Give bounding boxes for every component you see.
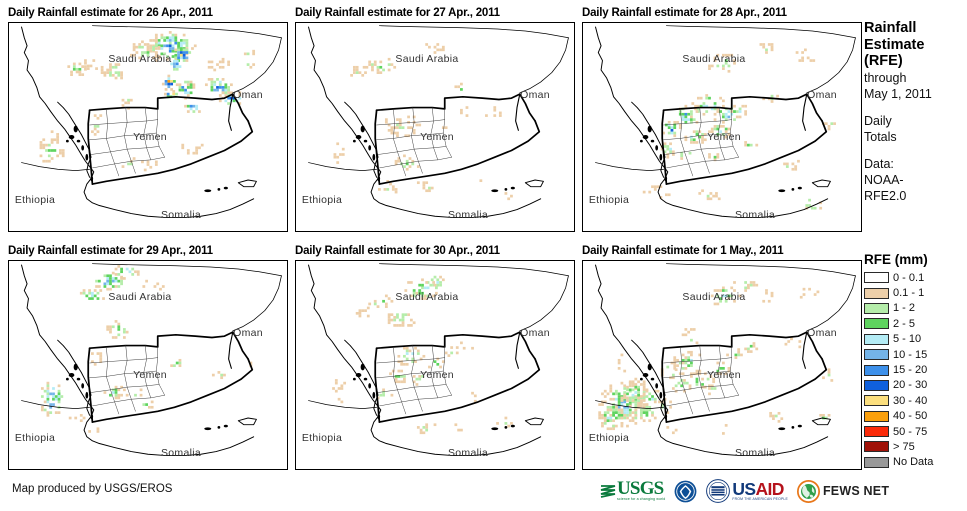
- noaa-logo: [674, 478, 697, 504]
- map-canvas-2: [296, 23, 574, 231]
- legend-swatch-0: [864, 272, 889, 283]
- panel-title-6: Daily Rainfall estimate for 1 May., 2011: [582, 245, 783, 258]
- map-frame-3: Saudi ArabiaOmanYemenEthiopiaSomalia: [582, 22, 862, 232]
- header-line-daily: Daily: [864, 113, 967, 129]
- header-line-rfe20: RFE2.0: [864, 188, 967, 204]
- fewsnet-wordmark: FEWS NET: [823, 484, 889, 498]
- map-frame-5: Saudi ArabiaOmanYemenEthiopiaSomalia: [295, 260, 575, 470]
- legend-label-3: 2 - 5: [893, 318, 915, 330]
- panel-title-5: Daily Rainfall estimate for 30 Apr., 201…: [295, 245, 500, 258]
- legend-swatch-4: [864, 334, 889, 345]
- rainfall-panel-4: Daily Rainfall estimate for 29 Apr., 201…: [8, 245, 213, 258]
- rainfall-panel-5: Daily Rainfall estimate for 30 Apr., 201…: [295, 245, 500, 258]
- legend-label-10: 50 - 75: [893, 426, 927, 438]
- usgs-wordmark: USGS: [617, 480, 665, 497]
- basemap-boundaries-4: [22, 264, 282, 456]
- map-canvas-4: [9, 261, 287, 469]
- header-line-noaa: NOAA-: [864, 172, 967, 188]
- legend-swatch-3: [864, 318, 889, 329]
- legend-row-2: 1 - 2: [864, 301, 967, 316]
- legend-row-6: 15 - 20: [864, 362, 967, 377]
- legend-label-1: 0.1 - 1: [893, 287, 924, 299]
- rainfall-raster-4: [41, 265, 252, 433]
- legend-swatch-1: [864, 288, 889, 299]
- basemap-boundaries-6: [596, 264, 856, 456]
- usgs-tagline: science for a changing world: [617, 497, 665, 502]
- rainfall-raster-5: [332, 276, 513, 434]
- panel-title-1: Daily Rainfall estimate for 26 Apr., 201…: [8, 7, 213, 20]
- usaid-logo: USAID FROM THE AMERICAN PEOPLE: [706, 478, 788, 504]
- header-line-rainfall: Rainfall: [864, 20, 967, 37]
- legend-swatch-6: [864, 365, 889, 376]
- header-line-estimate: Estimate: [864, 37, 967, 54]
- usaid-tagline: FROM THE AMERICAN PEOPLE: [732, 497, 788, 502]
- legend-label-12: No Data: [893, 456, 933, 468]
- rainfall-panel-2: Daily Rainfall estimate for 27 Apr., 201…: [295, 7, 500, 20]
- usgs-mark-icon: [600, 483, 616, 500]
- legend-swatch-12: [864, 457, 889, 468]
- header-line-rfe: (RFE): [864, 53, 967, 70]
- legend-row-0: 0 - 0.1: [864, 270, 967, 285]
- map-frame-2: Saudi ArabiaOmanYemenEthiopiaSomalia: [295, 22, 575, 232]
- rainfall-raster-3: [643, 43, 836, 209]
- fewsnet-globe-icon: [797, 480, 820, 503]
- legend-label-9: 40 - 50: [893, 410, 927, 422]
- legend-swatch-9: [864, 411, 889, 422]
- legend-label-0: 0 - 0.1: [893, 272, 924, 284]
- legend-swatch-2: [864, 303, 889, 314]
- legend-row-12: No Data: [864, 455, 967, 470]
- map-canvas-5: [296, 261, 574, 469]
- fewsnet-logo: FEWS NET: [797, 478, 889, 504]
- legend-row-7: 20 - 30: [864, 378, 967, 393]
- map-canvas-6: [583, 261, 861, 469]
- legend-row-11: > 75: [864, 439, 967, 454]
- legend-swatch-8: [864, 395, 889, 406]
- map-canvas-1: [9, 23, 287, 231]
- usaid-wordmark: USAID: [732, 481, 788, 497]
- legend-label-6: 15 - 20: [893, 364, 927, 376]
- usaid-seal-icon: [706, 479, 730, 503]
- basemap-boundaries-1: [22, 26, 282, 218]
- map-frame-1: Saudi ArabiaOmanYemenEthiopiaSomalia: [8, 22, 288, 232]
- legend-row-3: 2 - 5: [864, 316, 967, 331]
- map-canvas-3: [583, 23, 861, 231]
- legend-row-4: 5 - 10: [864, 332, 967, 347]
- legend-label-5: 10 - 15: [893, 349, 927, 361]
- legend-label-11: > 75: [893, 441, 915, 453]
- header-line-through: through: [864, 70, 967, 86]
- legend-row-1: 0.1 - 1: [864, 285, 967, 300]
- panel-title-2: Daily Rainfall estimate for 27 Apr., 201…: [295, 7, 500, 20]
- header-line-totals: Totals: [864, 129, 967, 145]
- panel-title-3: Daily Rainfall estimate for 28 Apr., 201…: [582, 7, 787, 20]
- map-credit: Map produced by USGS/EROS: [12, 483, 172, 495]
- legend-label-2: 1 - 2: [893, 302, 915, 314]
- legend-row-5: 10 - 15: [864, 347, 967, 362]
- legend-swatch-7: [864, 380, 889, 391]
- legend-row-8: 30 - 40: [864, 393, 967, 408]
- rfe-header-block: Rainfall Estimate (RFE) through May 1, 2…: [864, 20, 967, 204]
- legend-title: RFE (mm): [864, 252, 967, 267]
- usgs-logo: USGS science for a changing world: [600, 478, 665, 504]
- legend-row-9: 40 - 50: [864, 409, 967, 424]
- legend-swatch-11: [864, 441, 889, 452]
- rainfall-panel-1: Daily Rainfall estimate for 26 Apr., 201…: [8, 7, 213, 20]
- rainfall-panel-3: Daily Rainfall estimate for 28 Apr., 201…: [582, 7, 787, 20]
- panel-title-4: Daily Rainfall estimate for 29 Apr., 201…: [8, 245, 213, 258]
- legend-label-4: 5 - 10: [893, 333, 921, 345]
- legend-label-8: 30 - 40: [893, 395, 927, 407]
- legend-row-10: 50 - 75: [864, 424, 967, 439]
- noaa-seal-icon: [674, 480, 697, 503]
- header-line-data: Data:: [864, 156, 967, 172]
- map-frame-6: Saudi ArabiaOmanYemenEthiopiaSomalia: [582, 260, 862, 470]
- agency-logo-bar: USGS science for a changing world USAID …: [600, 477, 889, 505]
- legend-label-7: 20 - 30: [893, 379, 927, 391]
- basemap-boundaries-2: [309, 26, 569, 218]
- rainfall-raster-6: [598, 281, 833, 435]
- legend-swatch-10: [864, 426, 889, 437]
- rainfall-panel-6: Daily Rainfall estimate for 1 May., 2011: [582, 245, 783, 258]
- rfe-legend: RFE (mm) 0 - 0.10.1 - 11 - 22 - 55 - 101…: [864, 252, 967, 470]
- map-frame-4: Saudi ArabiaOmanYemenEthiopiaSomalia: [8, 260, 288, 470]
- legend-swatch-5: [864, 349, 889, 360]
- header-line-date: May 1, 2011: [864, 86, 967, 102]
